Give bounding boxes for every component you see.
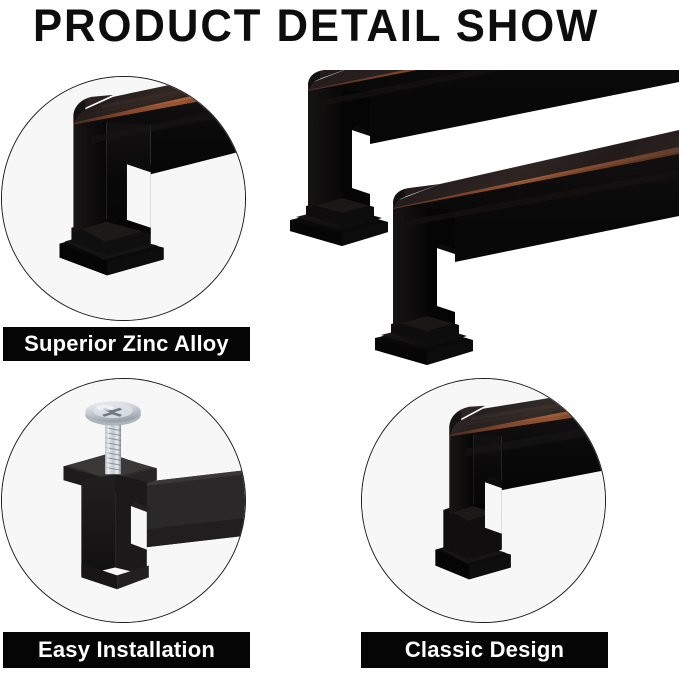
page-title: PRODUCT DETAIL SHOW — [33, 0, 615, 54]
caption-superior-zinc-alloy: Superior Zinc Alloy — [3, 327, 250, 361]
caption-classic-design: Classic Design — [361, 632, 608, 668]
caption-easy-installation: Easy Installation — [3, 632, 250, 668]
inset-superior-zinc-alloy — [1, 76, 246, 321]
caption-label: Superior Zinc Alloy — [24, 331, 229, 357]
pull-lower — [375, 130, 679, 365]
hero-product-image — [262, 70, 679, 370]
caption-label: Classic Design — [405, 637, 564, 663]
inset-classic-design — [361, 378, 606, 623]
caption-label: Easy Installation — [38, 637, 215, 663]
inset-easy-installation — [1, 378, 246, 623]
screw-head — [85, 401, 141, 426]
